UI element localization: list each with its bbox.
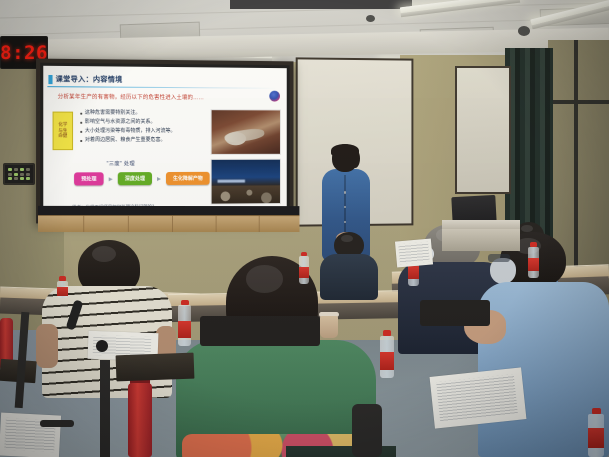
microphone-base (96, 340, 108, 352)
tag-line: 化学 (58, 123, 67, 128)
attendee-green-top (176, 256, 376, 457)
bullet-item: 对着周边居民、粮食产生重要危害。 (80, 138, 210, 144)
paper-coffee-cup (320, 312, 338, 338)
water-bottle (380, 330, 394, 378)
school-emblem-icon (269, 91, 280, 102)
eyeglasses-icon (488, 254, 510, 262)
bullet-text: 影响空气与水资源之间的关系。 (85, 120, 156, 126)
water-bottle (57, 276, 68, 298)
ceiling-dark-panel (230, 0, 412, 9)
water-bottle (299, 252, 309, 284)
bullet-text: 大小处理污染等有毒物质，排入河流等。 (85, 129, 176, 135)
photo-light-streak (217, 180, 244, 183)
bullet-dot-icon (80, 113, 82, 115)
bullet-text: 对着周边居民、粮食产生重要危害。 (85, 138, 166, 144)
classroom-photo-scene: 8:26 课堂导入：内容情境 分析某年生产的有害物，经历以下的危害性进入土壤的…… (0, 0, 609, 457)
arrow-right-icon (157, 177, 161, 181)
bullet-item: 大小处理污染等有毒物质，排入河流等。 (80, 129, 210, 135)
slide-yellow-tag: 化学 与生 命健 (53, 112, 74, 151)
slide-lead-text: 分析某年生产的有害物，经历以下的危害性进入土壤的…… (58, 92, 204, 101)
night-landfill-photo (211, 159, 281, 205)
notebook-stack (116, 353, 195, 382)
ceiling-sensor (366, 15, 375, 22)
chair-back (420, 300, 490, 326)
dome-security-camera (518, 26, 530, 36)
handout-papers (430, 367, 527, 428)
bullet-dot-icon (80, 140, 82, 142)
arrow-right-icon (109, 177, 113, 181)
title-accent-bar (48, 74, 52, 83)
bullet-dot-icon (80, 131, 82, 133)
water-bottle (528, 242, 539, 278)
chair-back (200, 316, 320, 346)
projection-display[interactable]: 课堂导入：内容情境 分析某年生产的有害物，经历以下的危害性进入土壤的…… 化学 … (36, 59, 293, 224)
tag-line: 命健 (58, 134, 67, 139)
desk-leg (100, 360, 110, 457)
whiteboard-right (455, 66, 511, 194)
title-divider (47, 86, 277, 89)
marker-ledge (38, 215, 299, 232)
bullet-dot-icon (80, 122, 82, 124)
process-chip: 预处理 (74, 172, 104, 185)
slide-title: 课堂导入：内容情境 (56, 74, 123, 85)
water-bottle (588, 408, 604, 457)
process-chip: 深度处理 (118, 172, 152, 185)
bullet-text: 这种危害需要特别关注。 (85, 111, 141, 117)
side-table-front (442, 229, 520, 251)
process-label: "三废" 处理 (107, 160, 135, 167)
bullet-item: 影响空气与水资源之间的关系。 (80, 120, 210, 126)
slide-title-bar: 课堂导入：内容情境 (48, 74, 122, 85)
process-chip-row: 预处理 深度处理 生化降解产物 (74, 172, 210, 186)
water-bottle (178, 300, 191, 346)
red-thermos (128, 372, 152, 457)
slide-bullet-list: 这种危害需要特别关注。 影响空气与水资源之间的关系。 大小处理污染等有毒物质，排… (80, 111, 210, 148)
polluted-river-photo (211, 109, 281, 155)
presenter-hair-side (350, 149, 360, 168)
handout-papers (395, 238, 433, 267)
attendee-arm (36, 324, 58, 368)
chair-leg (352, 404, 382, 457)
presentation-slide: 课堂导入：内容情境 分析某年生产的有害物，经历以下的危害性进入土壤的…… 化学 … (43, 66, 286, 216)
wall-control-panel[interactable] (3, 163, 35, 185)
process-chip: 生化降解产物 (166, 172, 210, 185)
bullet-item: 这种危害需要特别关注。 (80, 111, 210, 117)
desk-foot (40, 420, 74, 427)
